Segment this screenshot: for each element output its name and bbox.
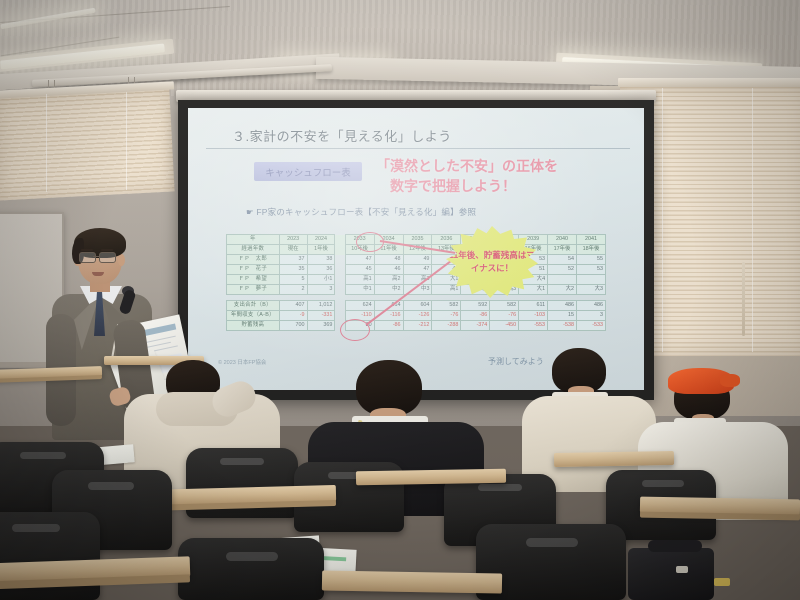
table-cell: 46 [374,265,403,275]
table-cell: -126 [403,311,432,321]
table-gap [335,285,345,295]
callout-text: 11年後、貯蓄残高はマイナスに！ [446,249,538,275]
slide-subline: ☛ FP家のキャッシュフロー表【不安「見える化」編】参照 [246,206,476,218]
table-row-label: ＦＰ 夢子 [227,285,280,295]
table-cell: -374 [461,321,490,331]
table-cell: -103 [519,311,548,321]
table-row-label: ＦＰ 花子 [227,265,280,275]
table-row: 貯蓄残高70036930-86-212-288-374-450-553-538-… [227,321,606,331]
table-row-label: 年 [227,235,280,245]
desk-front-center [322,570,502,593]
table-cell: 54 [548,255,577,265]
table-cell: -450 [490,321,519,331]
table-cell: 592 [461,301,490,311]
desk-mid-center [356,469,506,486]
table-cell: 624 [345,301,374,311]
table-cell: 486 [576,301,605,311]
table-row-label: 貯蓄残高 [227,321,280,331]
table-cell: 2023 [279,235,307,245]
table-cell: 2041 [576,235,605,245]
chair-front-center[interactable] [178,538,324,600]
presenter-glasses-lens [99,252,116,263]
table-cell: 48 [374,255,403,265]
table-cell: 611 [519,301,548,311]
table-row-label: ＦＰ 太郎 [227,255,280,265]
table-gap [335,265,345,275]
year-highlight-circle [356,232,384,252]
table-gap [335,301,345,311]
table-cell: 2 [279,285,307,295]
presenter-ear [118,254,125,266]
table-row: 支出合計（B）4071,0126246146045825925826114864… [227,301,606,311]
table-cell: 45 [345,265,374,275]
blind-cord [662,88,663,352]
table-cell: 2040 [548,235,577,245]
table-cell: 3 [307,285,335,295]
table-cell: 604 [403,301,432,311]
blind-tilt-wand[interactable] [742,262,745,336]
table-cell: 35 [279,265,307,275]
table-cell: 中1 [345,285,374,295]
table-gap [335,245,345,255]
presenter-glasses-lens [79,252,96,263]
table-cell: 高2 [374,275,403,285]
table-gap [335,255,345,265]
table-cell: 700 [279,321,307,331]
seminar-room-photo: ３.家計の不安を「見える化」しよう キャッシュフロー表 「漠然とした不安」の正体… [0,0,800,600]
table-cell: -76 [490,311,519,321]
table-cell: 582 [490,301,519,311]
table-cell: 55 [576,255,605,265]
table-cell: 17年後 [548,245,577,255]
table-cell: -212 [403,321,432,331]
table-row: 年間収支（A-B）-9-331-110-116-126-76-86-76-103… [227,311,606,321]
table-cell: 369 [307,321,335,331]
table-row-label: 支出合計（B） [227,301,280,311]
table-cell: 18年後 [576,245,605,255]
table-row-label: 年間収支（A-B） [227,311,280,321]
table-cell: 38 [307,255,335,265]
table-cell: 582 [432,301,461,311]
backpack-tag [714,578,730,586]
headline-line-2: 数字で把握しよう！ [376,176,626,196]
presenter-eyebrow [81,249,93,251]
table-cell: 52 [548,265,577,275]
chair-handle-slot [226,552,278,561]
table-cell: 15 [548,311,577,321]
table-cell: -9 [279,311,307,321]
table-cell: -533 [576,321,605,331]
table-cell: -553 [519,321,548,331]
table-cell: -331 [307,311,335,321]
backpack-strap [648,540,702,552]
table-cell: 53 [576,265,605,275]
table-cell: 高1 [345,275,374,285]
chair-handle-slot [20,452,66,459]
table-cell: 1,012 [307,301,335,311]
chair-handle-slot [478,484,522,491]
chair-handle-slot [220,458,264,465]
slide-copyright: © 2023 日本FP協会 [218,358,266,366]
table-cell: -76 [432,311,461,321]
table-cell: -86 [461,311,490,321]
table-cell: 36 [307,265,335,275]
table-cell: 47 [345,255,374,265]
table-gap [335,275,345,285]
bandana-knot [720,374,740,387]
slide-headline: 「漠然とした不安」の正体を 数字で把握しよう！ [376,156,626,197]
chair-handle-slot [12,524,60,532]
backpack [628,548,714,600]
window-blinds-left[interactable] [0,87,175,200]
table-cell: 486 [548,301,577,311]
blind-cord [46,94,47,192]
savings-highlight-circle [340,319,370,341]
table-cell: 1年後 [307,245,335,255]
backpack-buckle [676,566,688,573]
table-row-label: ＦＰ 希望 [227,275,280,285]
cashflow-table: 年202320242033203420352036203720382039204… [226,234,606,331]
table-row: 年202320242033203420352036203720382039204… [227,235,606,245]
blind-headrail-right [618,78,800,87]
table-cell: 現在 [279,245,307,255]
table-row: ＦＰ 希望5小1高1高2高3大1大2大3大4 [227,275,606,285]
slide-title-divider [206,148,630,149]
blind-cord [752,88,753,352]
table-cell: 49 [403,255,432,265]
table-cell: 2036 [432,235,461,245]
table-cell: -288 [432,321,461,331]
table-cell: 47 [403,265,432,275]
table-gap [335,311,345,321]
desk-mid-right [554,451,674,467]
chair-handle-slot [88,482,134,490]
chair-handle-slot [642,480,684,487]
table-cell: 3 [576,311,605,321]
table-cell: 2024 [307,235,335,245]
table-cell: 2035 [403,235,432,245]
table-cell: 大2 [548,285,577,295]
table-cell: 小1 [307,275,335,285]
table-cell [576,275,605,285]
presenter-glasses-bridge [93,256,99,257]
table-cell: -538 [548,321,577,331]
table-cell: 37 [279,255,307,265]
table-cell: 5 [279,275,307,285]
blind-cord [126,92,127,190]
table-cell: -86 [374,321,403,331]
presenter-eyebrow [101,249,113,251]
table-cell: 大3 [576,285,605,295]
slide-title: ３.家計の不安を「見える化」しよう [232,126,452,145]
table-row: ＦＰ 太郎3738474849505152535455 [227,255,606,265]
table-cell: 407 [279,301,307,311]
table-row-label: 経過年数 [227,245,280,255]
headline-line-1: 「漠然とした不安」の正体を [376,158,558,174]
cashflow-badge: キャッシュフロー表 [254,162,362,181]
table-cell: 中2 [374,285,403,295]
table-row: ＦＰ 花子3536454647484950515253 [227,265,606,275]
table-cell [548,275,577,285]
chair-handle-slot [526,538,578,547]
table-gap [335,235,345,245]
